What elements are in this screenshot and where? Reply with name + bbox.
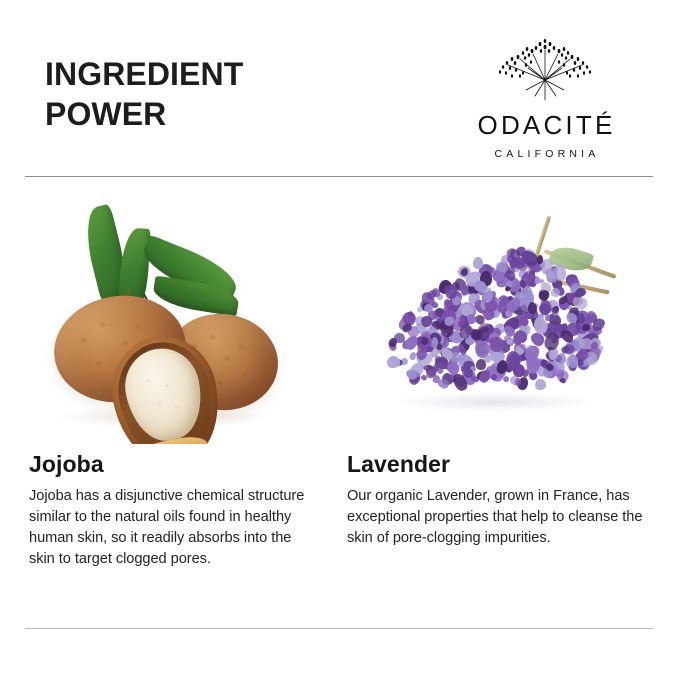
divider-top	[25, 176, 653, 177]
ingredient-name-lavender: Lavender	[347, 450, 664, 478]
lavender-floret	[386, 355, 400, 369]
ingredient-power-page: INGREDIENT POWER	[0, 0, 679, 679]
brand-wordmark: ODACITÉ	[450, 110, 640, 140]
lavender-floret	[534, 378, 546, 390]
page-header: INGREDIENT POWER	[0, 0, 679, 176]
ingredient-name-jojoba: Jojoba	[29, 450, 346, 478]
lavender-floret	[581, 323, 590, 331]
argan-jojoba-nuts-photo	[28, 196, 346, 444]
lavender-floret	[475, 359, 486, 370]
lavender-floret	[506, 351, 520, 370]
brand-logo: ODACITÉ CALIFORNIA	[450, 32, 640, 161]
ingredient-description-lavender: Our organic Lavender, grown in France, h…	[347, 486, 643, 549]
brand-tagline: CALIFORNIA	[450, 147, 640, 161]
kernel-texture	[127, 352, 200, 436]
ingredient-columns: Jojoba Jojoba has a disjunctive chemical…	[0, 196, 679, 616]
lavender-floret	[416, 306, 424, 314]
ingredient-description-jojoba: Jojoba has a disjunctive chemical struct…	[29, 486, 321, 570]
page-title: INGREDIENT POWER	[45, 54, 335, 134]
umbel-flower-icon	[490, 32, 600, 106]
lavender-floret	[576, 312, 585, 324]
lavender-floret	[529, 270, 535, 275]
lavender-floret	[473, 257, 483, 269]
divider-bottom	[25, 628, 653, 629]
lavender-floret	[527, 302, 537, 315]
lavender-floret	[559, 377, 566, 384]
lavender-floret	[431, 337, 438, 346]
ingredient-card-jojoba: Jojoba Jojoba has a disjunctive chemical…	[28, 196, 346, 616]
lavender-bouquet-photo	[346, 196, 664, 444]
ingredient-card-lavender: Lavender Our organic Lavender, grown in …	[346, 196, 664, 616]
lavender-shadow	[394, 392, 594, 412]
lavender-floret	[514, 378, 521, 386]
